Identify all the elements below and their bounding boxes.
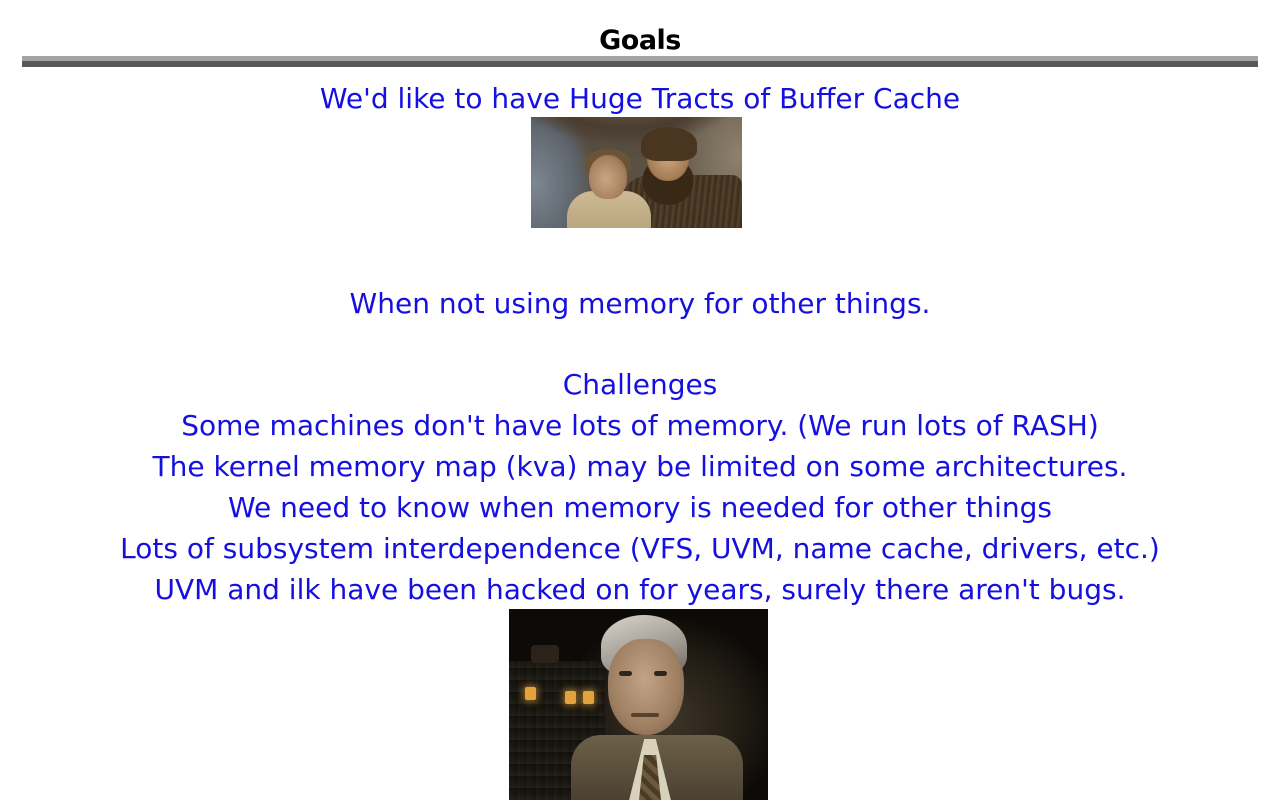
challenge-item-5: UVM and ilk have been hacked on for year… — [0, 569, 1280, 610]
man-eye-shape — [654, 671, 667, 676]
challenge-item-3: We need to know when memory is needed fo… — [0, 487, 1280, 528]
right-figure-hair-shape — [641, 127, 697, 161]
cockpit-indicator-lamp — [583, 691, 594, 704]
left-figure-head-shape — [589, 155, 627, 199]
challenges-block: Challenges Some machines don't have lots… — [0, 364, 1280, 610]
cockpit-indicator-lamp — [525, 687, 536, 700]
cockpit-man-photo — [509, 609, 768, 800]
page-title: Goals — [0, 26, 1280, 56]
headline-text: We'd like to have Huge Tracts of Buffer … — [0, 78, 1280, 119]
challenges-heading: Challenges — [0, 364, 1280, 405]
divider-dark-band — [22, 61, 1258, 67]
challenge-item-1: Some machines don't have lots of memory.… — [0, 405, 1280, 446]
title-divider — [22, 56, 1258, 67]
challenge-item-2: The kernel memory map (kva) may be limit… — [0, 446, 1280, 487]
cockpit-indicator-lamp — [565, 691, 576, 704]
challenge-item-4: Lots of subsystem interdependence (VFS, … — [0, 528, 1280, 569]
subline-text: When not using memory for other things. — [0, 283, 1280, 324]
man-face-shape — [608, 639, 684, 735]
man-mouth-shape — [631, 713, 659, 717]
man-eye-shape — [619, 671, 632, 676]
cockpit-lever-shape — [531, 645, 559, 663]
cave-scene-photo — [531, 117, 742, 228]
